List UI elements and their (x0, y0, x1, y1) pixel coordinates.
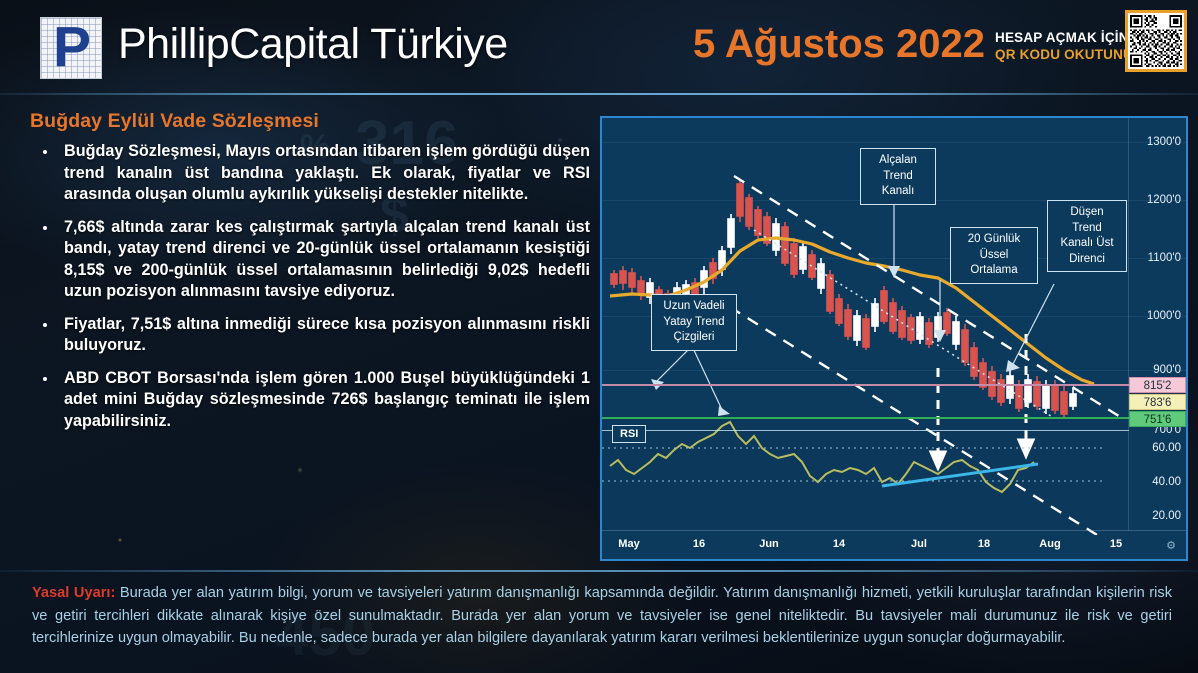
phillipcapital-logo: P (40, 17, 102, 79)
page-header: P PhillipCapital Türkiye 5 Ağustos 2022 … (0, 0, 1198, 95)
chart-canvas: Alçalan Trend Kanalı 20 Günlük Üssel Ort… (602, 118, 1186, 559)
price-axis[interactable]: 1300'0 1200'0 1100'0 1000'0 900'0 700'0 … (1128, 118, 1186, 531)
annotation-uzun-vadeli-yatay-trend-cizgileri: Uzun Vadeli Yatay Trend Çizgileri (651, 294, 737, 351)
logo-letter: P (49, 24, 95, 74)
disclaimer-label: Yasal Uyarı: (32, 585, 115, 601)
axis-tick: 900'0 (1133, 364, 1181, 376)
annotation-20-gunluk-ussel-ortalama: 20 Günlük Üssel Ortalama (950, 227, 1038, 284)
rsi-indicator-label[interactable]: RSI (612, 425, 646, 443)
support-line (602, 417, 1129, 419)
commentary-panel: Buğday Eylül Vade Sözleşmesi Buğday Sözl… (30, 110, 590, 444)
qr-code-icon[interactable] (1125, 10, 1187, 72)
price-badge-resistance: 815'2 (1129, 377, 1186, 393)
page-title: Buğday Eylül Vade Sözleşmesi (30, 110, 590, 133)
qr-call-to-action: HESAP AÇMAK İÇİN QR KODU OKUTUNUZ (995, 30, 1120, 64)
gear-icon[interactable]: ⚙ (1166, 539, 1176, 552)
qr-cta-line1: HESAP AÇMAK İÇİN (995, 30, 1120, 47)
list-item: Fiyatlar, 7,51$ altına inmediği sürece k… (30, 314, 590, 357)
pane-separator (602, 430, 1129, 431)
axis-tick: 14 (833, 538, 845, 550)
axis-tick: 1200'0 (1133, 194, 1181, 206)
price-chart[interactable]: Alçalan Trend Kanalı 20 Günlük Üssel Ort… (600, 116, 1188, 561)
axis-tick: 15 (1110, 538, 1122, 550)
header-divider (0, 93, 1198, 95)
qr-cta-line2: QR KODU OKUTUNUZ (995, 47, 1120, 64)
annotation-alcalan-trend-kanali: Alçalan Trend Kanalı (860, 148, 936, 205)
axis-tick: May (618, 538, 639, 550)
slide: 316 % $ 450 P PhillipCapital Türkiye 5 A… (0, 0, 1198, 673)
axis-tick: Aug (1039, 538, 1060, 550)
list-item: ABD CBOT Borsası'nda işlem gören 1.000 B… (30, 368, 590, 433)
axis-tick: 1300'0 (1133, 136, 1181, 148)
list-item: Buğday Sözleşmesi, Mayıs ortasından itib… (30, 141, 590, 206)
axis-tick: Jul (911, 538, 927, 550)
trend-channel-lower (712, 296, 1102, 535)
axis-tick: Jun (759, 538, 779, 550)
axis-tick: 16 (693, 538, 705, 550)
time-axis[interactable]: May 16 Jun 14 Jul 18 Aug 15 ⚙ (602, 530, 1186, 559)
rsi-axis-tick: 40.00 (1133, 476, 1181, 488)
rsi-axis-tick: 60.00 (1133, 442, 1181, 454)
commentary-list: Buğday Sözleşmesi, Mayıs ortasından itib… (30, 141, 590, 433)
axis-tick: 18 (978, 538, 990, 550)
annotation-dusen-trend-kanali-ust-direnci: Düşen Trend Kanalı Üst Direnci (1047, 200, 1127, 272)
price-badge-support: 751'6 (1129, 411, 1186, 427)
rsi-axis-tick: 20.00 (1133, 510, 1181, 522)
resistance-line (602, 384, 1129, 386)
price-badge-last: 783'6 (1129, 394, 1186, 410)
report-date: 5 Ağustos 2022 (655, 22, 985, 67)
disclaimer-text: Burada yer alan yatırım bilgi, yorum ve … (32, 585, 1172, 646)
legal-disclaimer: Yasal Uyarı: Burada yer alan yatırım bil… (32, 582, 1172, 650)
footer-divider (0, 570, 1198, 572)
axis-tick: 1100'0 (1133, 252, 1181, 264)
axis-tick: 1000'0 (1133, 310, 1181, 322)
list-item: 7,66$ altında zarar kes çalıştırmak şart… (30, 217, 590, 303)
brand-title: PhillipCapital Türkiye (118, 20, 508, 69)
